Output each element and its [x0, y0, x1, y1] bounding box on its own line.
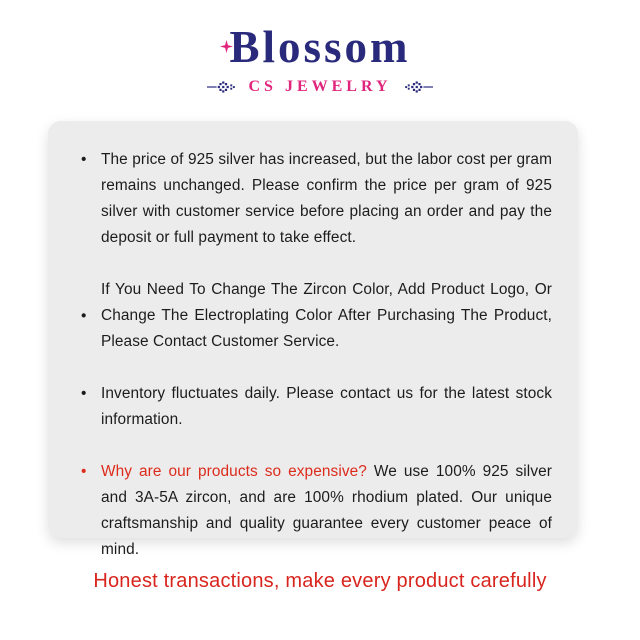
brand-name-row: Blossom: [229, 24, 410, 71]
bullet-icon: •: [81, 308, 87, 323]
list-item-body: Inventory fluctuates daily. Please conta…: [101, 385, 552, 428]
bullet-icon: •: [81, 381, 87, 407]
brand-name: Blossom: [229, 24, 410, 71]
policy-notice-list: • The price of 925 silver has increased,…: [74, 147, 552, 563]
list-item: • Inventory fluctuates daily. Please con…: [74, 381, 552, 433]
snowflake-ornament-right-icon: [399, 80, 433, 94]
brand-logo: Blossom: [0, 0, 640, 96]
footer-slogan: Honest transactions, make every product …: [0, 570, 640, 593]
snowflake-ornament-left-icon: [207, 80, 241, 94]
bullet-icon: •: [81, 147, 87, 173]
bullet-icon: •: [81, 459, 87, 485]
list-item: • If You Need To Change The Zircon Color…: [74, 277, 552, 355]
list-item-highlight: Why are our products so expensive?: [101, 463, 367, 480]
spacer: [367, 463, 374, 480]
brand-tagline: CS JEWELRY: [248, 78, 391, 96]
list-item: • The price of 925 silver has increased,…: [74, 147, 552, 251]
brand-tagline-row: CS JEWELRY: [0, 78, 640, 96]
list-item-body: If You Need To Change The Zircon Color, …: [101, 281, 552, 350]
list-item: • Why are our products so expensive? We …: [74, 459, 552, 563]
list-item-body: The price of 925 silver has increased, b…: [101, 151, 552, 246]
policy-notice-card: • The price of 925 silver has increased,…: [48, 121, 578, 538]
